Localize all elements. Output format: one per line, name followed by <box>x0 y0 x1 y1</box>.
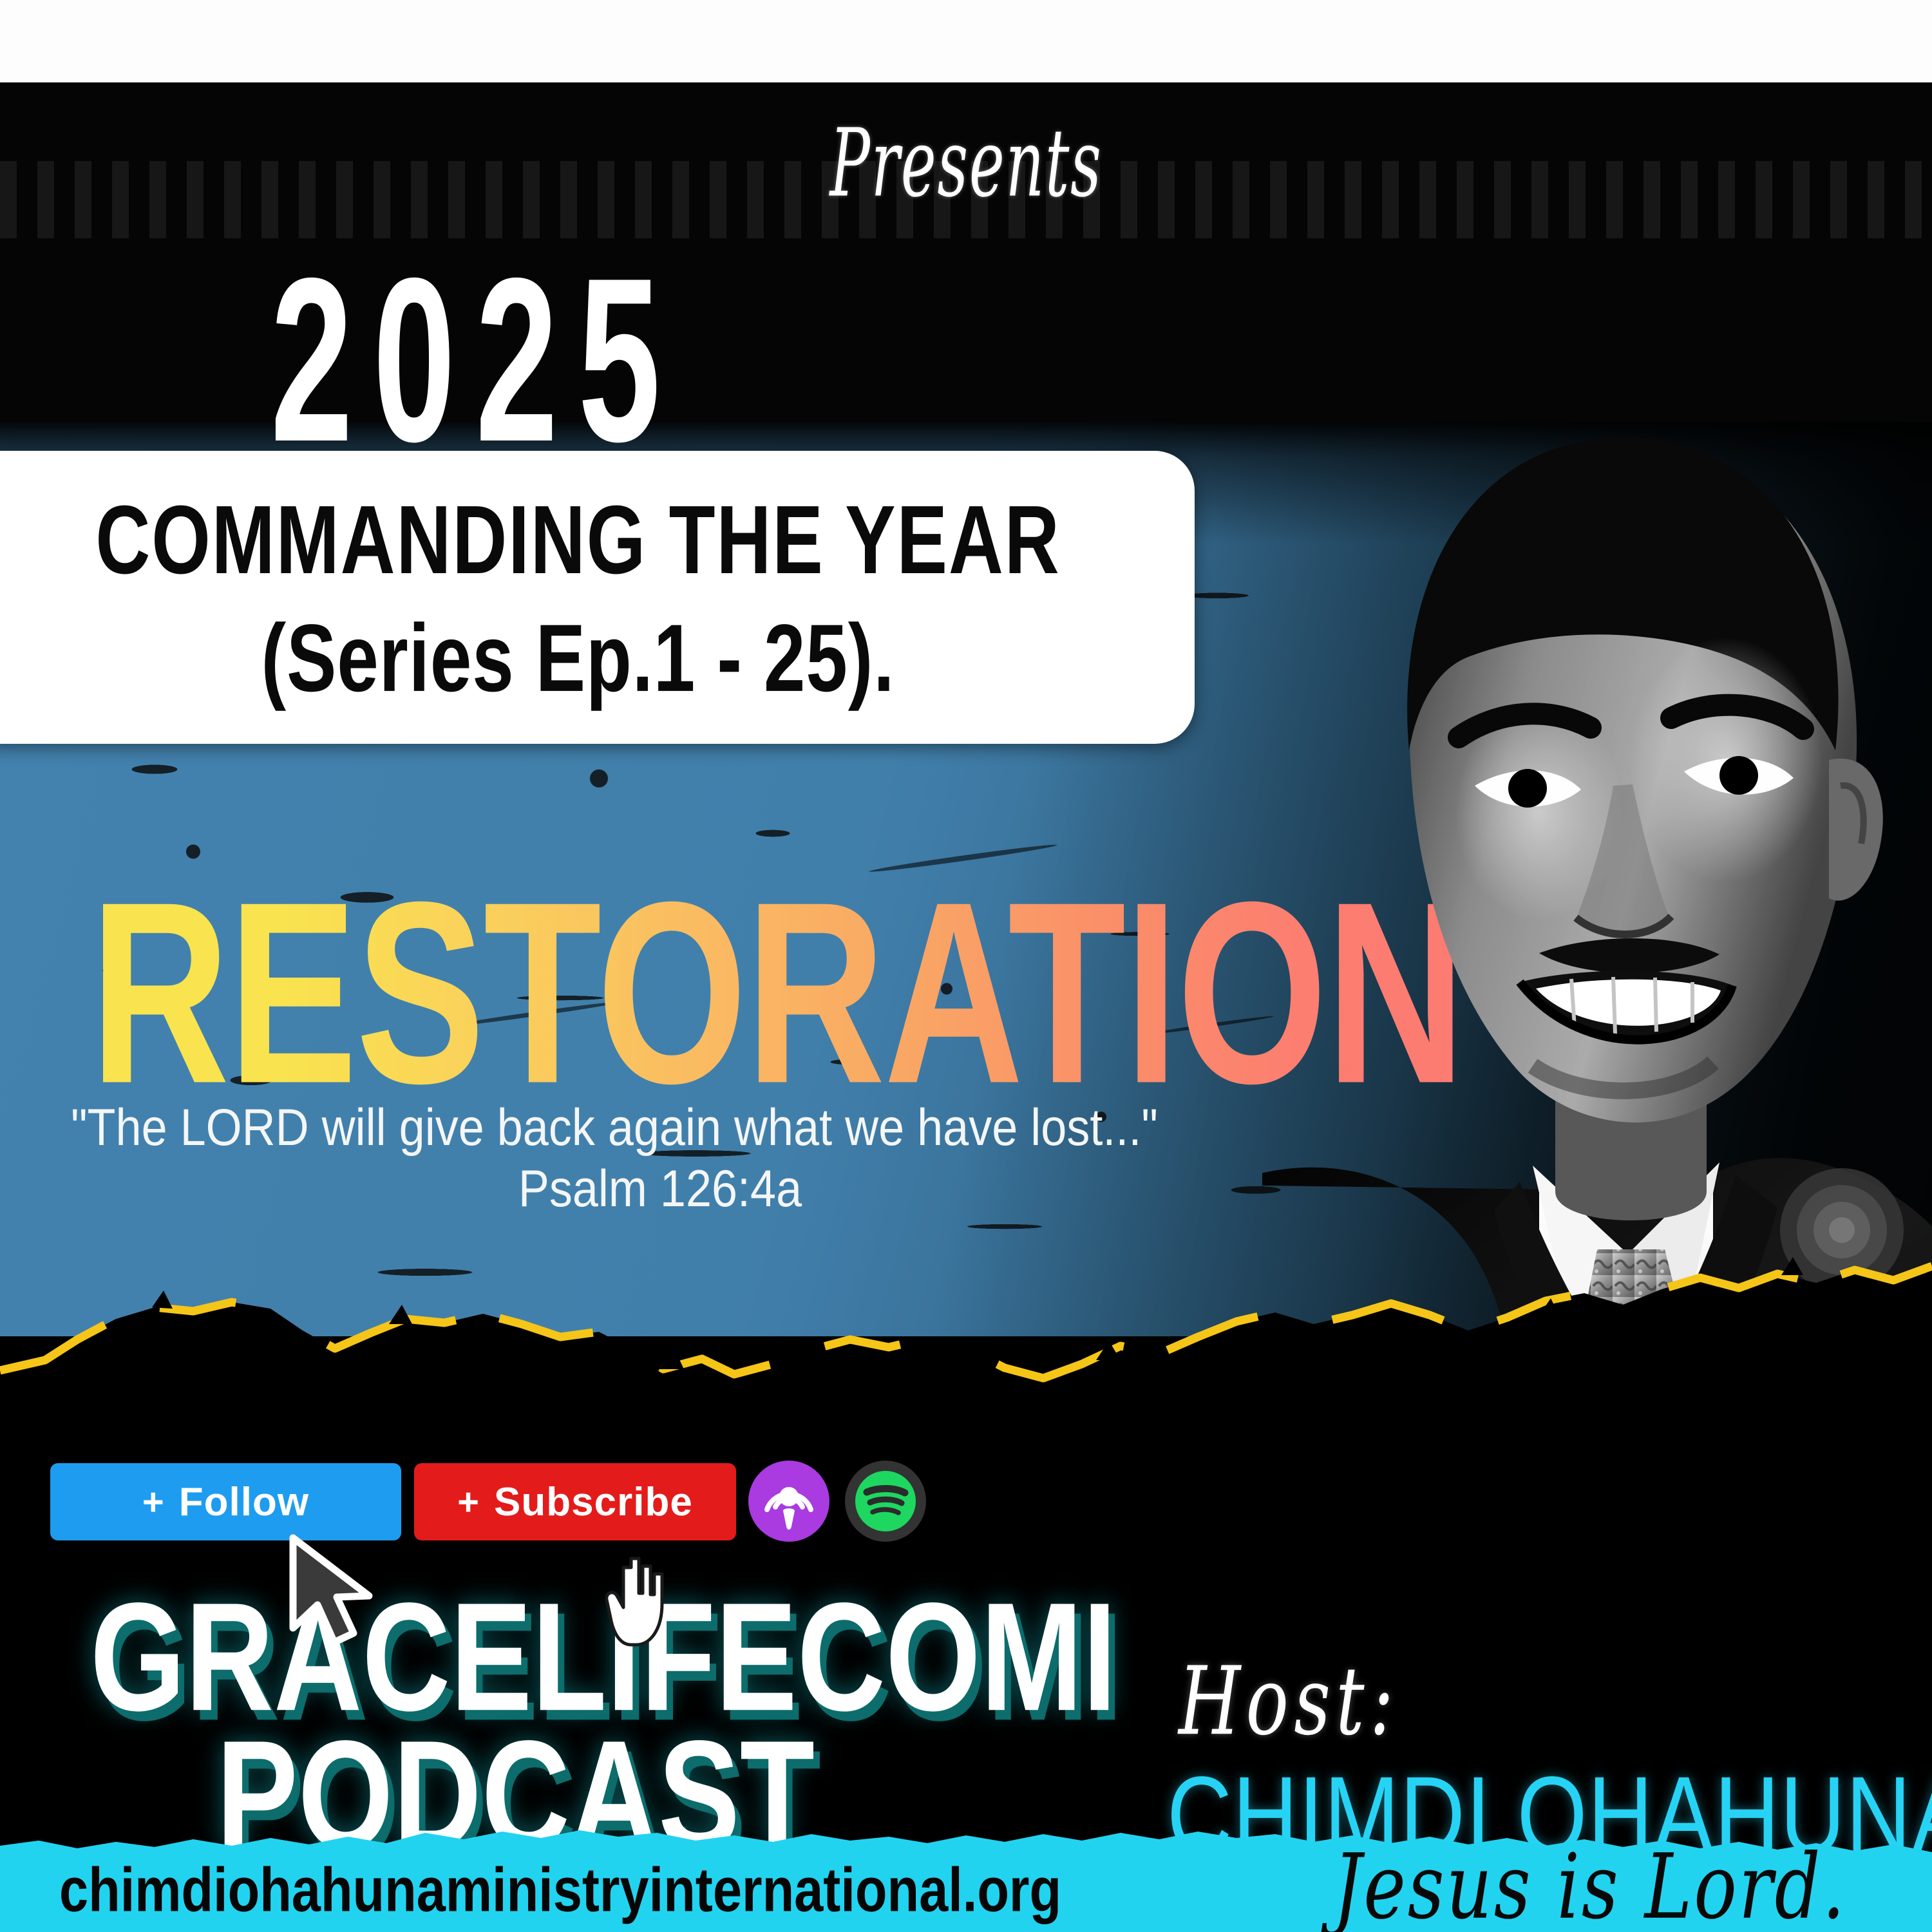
hand-cursor-icon <box>605 1553 675 1653</box>
scripture-reference: Psalm 126:4a <box>71 1159 1249 1218</box>
subscribe-button[interactable]: + Subscribe <box>414 1463 736 1540</box>
year-heading: 2025 <box>270 243 681 477</box>
plus-icon: + <box>457 1481 480 1524</box>
top-white-bar <box>0 0 1932 82</box>
series-title-line2: (Series Ep.1 - 25). <box>11 603 1146 713</box>
follow-button-label: Follow <box>179 1479 309 1525</box>
plus-icon: + <box>142 1481 165 1524</box>
podcast-cover-artwork: CHIMDI OHAHUNA MINISTRY INTERNATIONAL. P… <box>0 0 1932 1932</box>
arrow-cursor-icon <box>287 1534 377 1651</box>
series-title-line1: COMMANDING THE YEAR <box>11 484 1146 596</box>
apple-podcasts-icon[interactable] <box>748 1461 829 1545</box>
spotify-icon[interactable] <box>845 1461 926 1545</box>
series-title-card: COMMANDING THE YEAR (Series Ep.1 - 25). <box>0 451 1195 744</box>
theme-word: RESTORATION <box>90 863 1464 1122</box>
website-url[interactable]: chimdiohahunaministryinternational.org <box>59 1855 1061 1926</box>
scripture-verse: "The LORD will give back again what we h… <box>71 1098 1249 1157</box>
subscribe-button-label: Subscribe <box>494 1479 693 1525</box>
tagline: Jesus is Lord. <box>1333 1834 1847 1932</box>
follow-button[interactable]: + Follow <box>50 1463 401 1540</box>
host-portrait-photo <box>1262 399 1932 1732</box>
presents-label: Presents <box>135 109 1797 218</box>
host-label: Host: <box>1179 1647 1399 1757</box>
